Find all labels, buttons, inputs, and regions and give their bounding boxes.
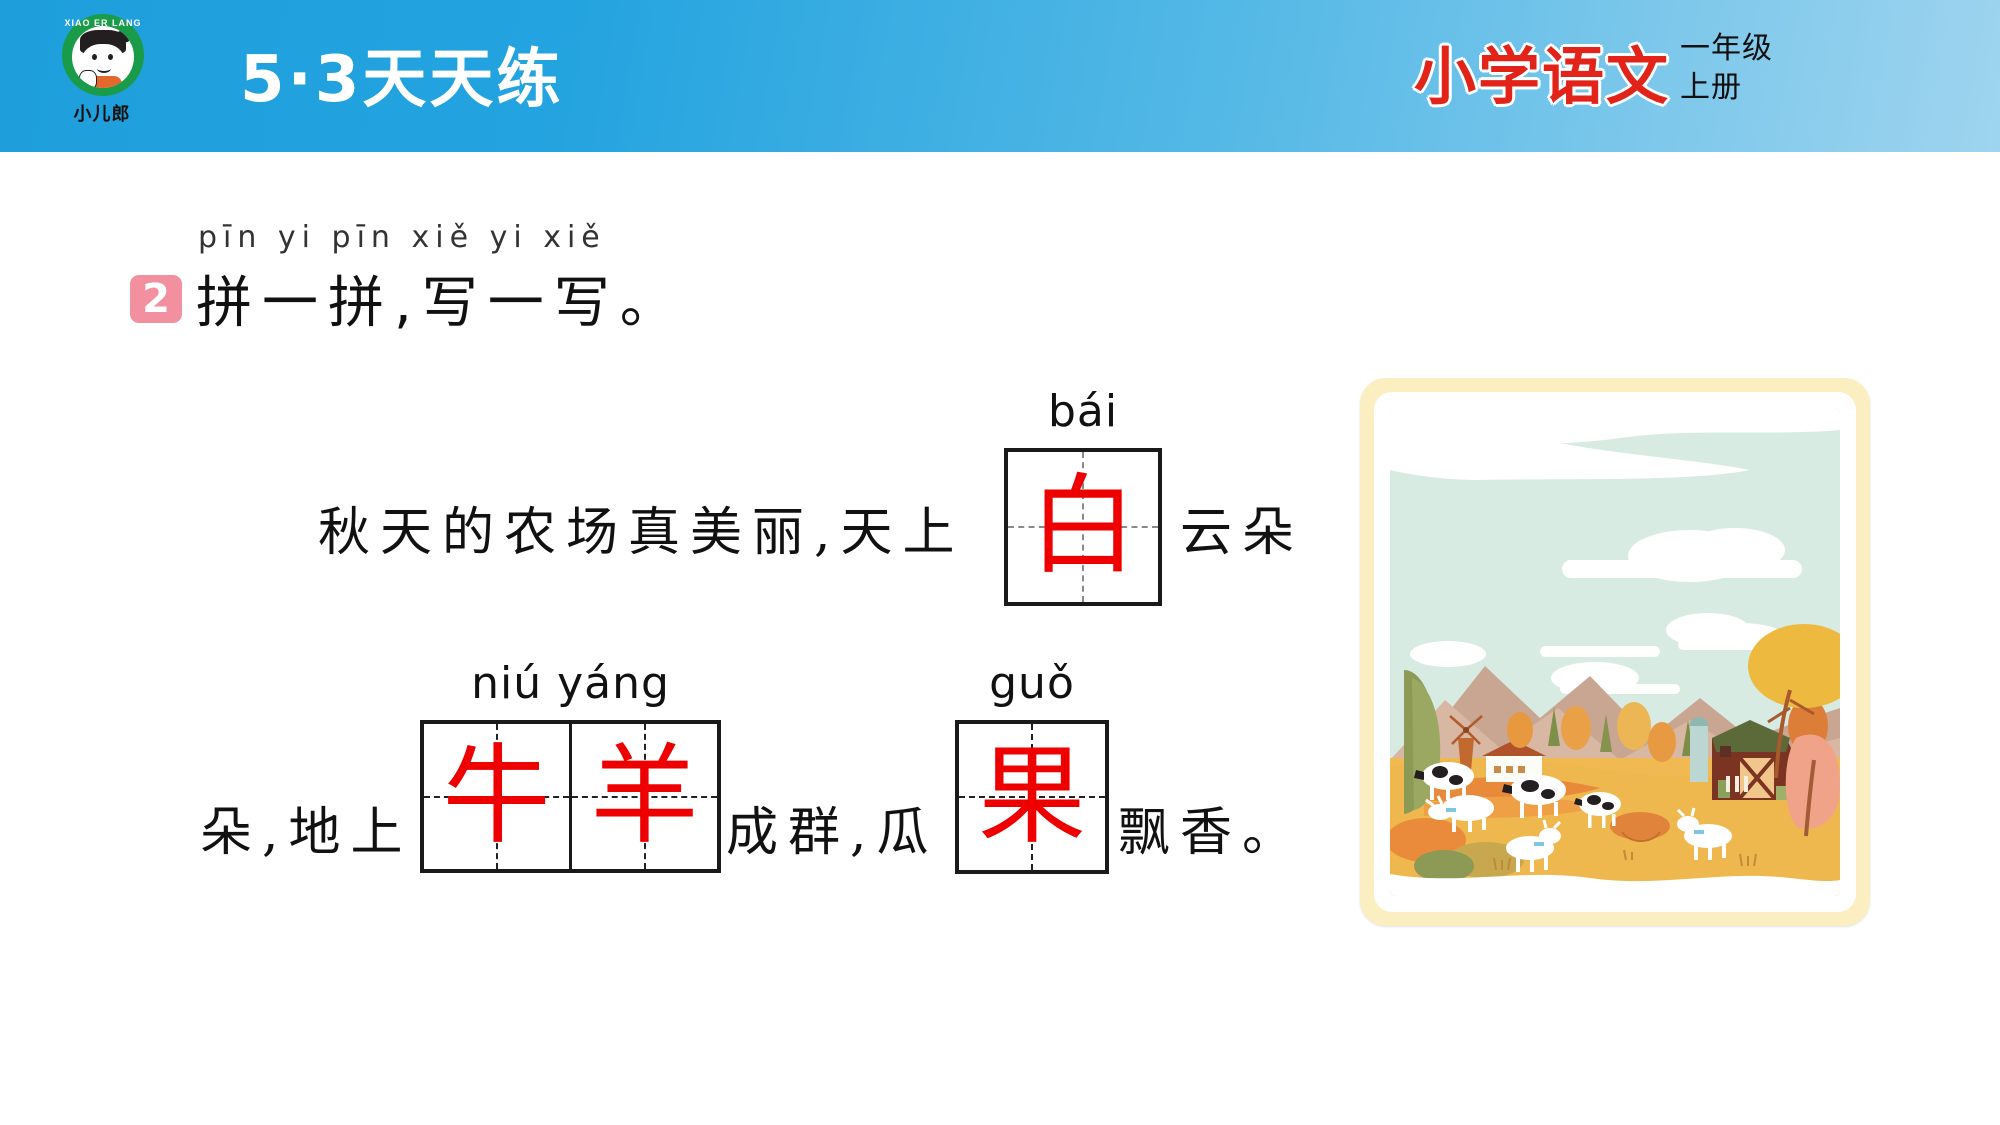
- sentence-row2-tail: 飘香。: [1118, 790, 1304, 865]
- illustration-frame: [1360, 378, 1870, 926]
- pinyin-niuyang: niú yáng: [420, 658, 721, 709]
- tianzige-grid: 白: [1004, 448, 1162, 606]
- sentence-row1-tail: 云朵: [1180, 490, 1304, 565]
- illustration-white-border: [1374, 392, 1856, 912]
- boy-mouth: [97, 64, 111, 73]
- tianzige-cell[interactable]: 白: [1008, 452, 1158, 602]
- exercise-number-badge: 2: [130, 275, 182, 323]
- answer-character: 果: [978, 743, 1086, 851]
- boy-eye-left: [92, 54, 97, 60]
- tianzige-cell[interactable]: 果: [959, 724, 1105, 870]
- exercise-title-pinyin: pīn yi pīn xiě yi xiě: [198, 220, 606, 255]
- exercise-title: 拼一拼,写一写。: [196, 258, 686, 339]
- tianzige-grid: 果: [955, 720, 1109, 874]
- pinyin-guo: guǒ: [955, 658, 1109, 709]
- boy-eye-right: [108, 54, 113, 60]
- subject-title: 小学语文: [1414, 26, 1670, 116]
- answer-character: 牛: [442, 743, 550, 851]
- boy-arm: [79, 70, 97, 88]
- brand-title: 5·3天天练: [240, 28, 563, 120]
- pinyin-bai: bái: [1004, 386, 1162, 437]
- publisher-logo: XIAO ER LANG 小儿郎: [48, 14, 156, 132]
- page-header: XIAO ER LANG 小儿郎 5·3天天练 小学语文 一年级 上册: [0, 0, 2000, 152]
- farm-scene-svg: [1390, 408, 1840, 896]
- logo-caption: 小儿郎: [48, 100, 156, 126]
- tianzige-cell[interactable]: 羊: [569, 724, 717, 869]
- answer-character: 羊: [590, 743, 698, 851]
- character-box-guo[interactable]: guǒ 果: [955, 720, 1109, 874]
- logo-boy-face-icon: [72, 26, 134, 88]
- autumn-farm-illustration: [1390, 408, 1840, 896]
- character-box-bai[interactable]: bái 白: [1004, 448, 1162, 606]
- tianzige-grid: 牛 羊: [420, 720, 721, 873]
- grade-volume: 上册: [1680, 71, 1800, 106]
- tianzige-cell[interactable]: 牛: [424, 724, 569, 869]
- answer-character: 白: [1029, 473, 1137, 581]
- sentence-row2-mid: 成群,瓜: [726, 790, 939, 865]
- character-box-niuyang[interactable]: niú yáng 牛 羊: [420, 720, 721, 873]
- grade-block: 一年级 上册: [1680, 32, 1800, 105]
- sentence-row2-left: 朵,地上: [200, 790, 413, 865]
- sentence-row1-text: 秋天的农场真美丽,天上: [318, 490, 965, 565]
- grade-level: 一年级: [1680, 32, 1800, 67]
